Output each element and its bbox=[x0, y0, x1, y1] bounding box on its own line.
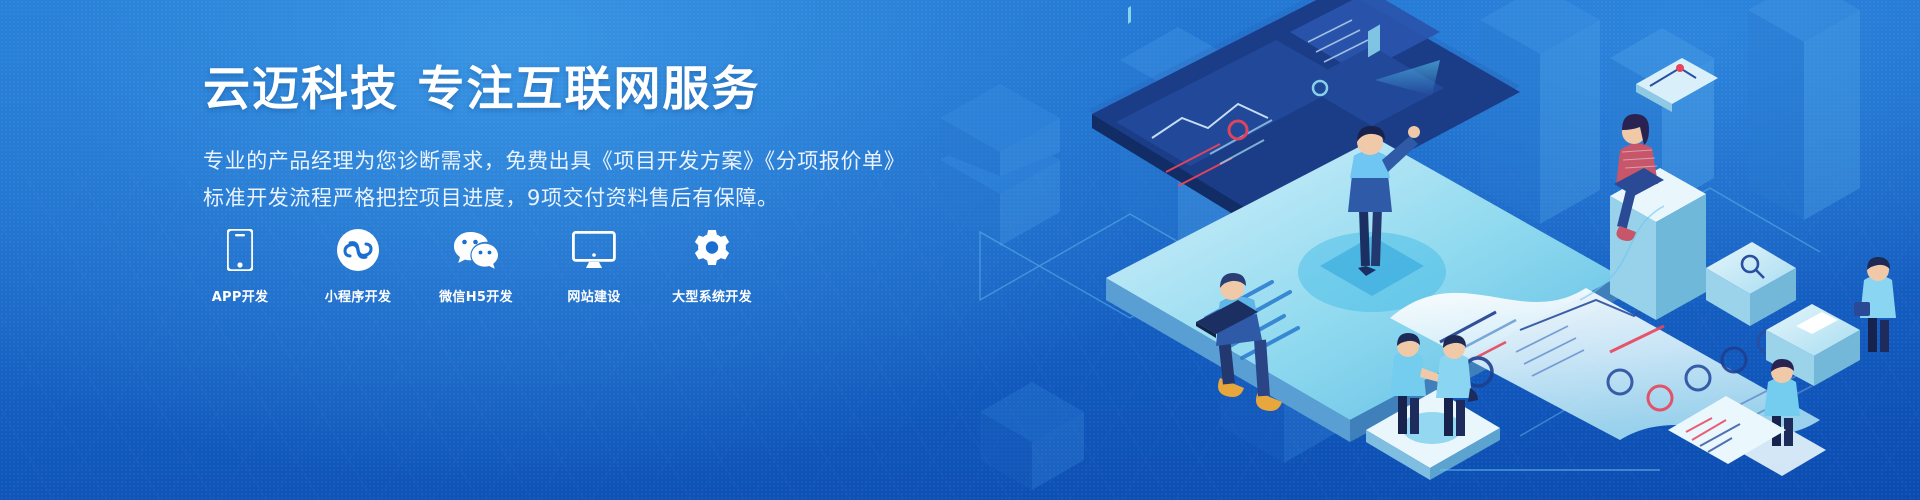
hero-banner: 云迈科技 专注互联网服务 专业的产品经理为您诊断需求，免费出具《项目开发方案》《… bbox=[0, 0, 1920, 500]
isometric-illustration bbox=[920, 0, 1920, 500]
monitor-icon bbox=[570, 228, 618, 272]
hero-copy: 云迈科技 专注互联网服务 专业的产品经理为您诊断需求，免费出具《项目开发方案》《… bbox=[203, 62, 923, 217]
page-title: 云迈科技 专注互联网服务 bbox=[203, 62, 923, 117]
service-label: 大型系统开发 bbox=[672, 286, 752, 305]
service-label: APP开发 bbox=[212, 286, 269, 305]
service-label: 小程序开发 bbox=[325, 286, 392, 305]
service-item-app[interactable]: APP开发 bbox=[200, 228, 280, 305]
service-item-miniprogram[interactable]: 小程序开发 bbox=[318, 228, 398, 305]
service-label: 微信H5开发 bbox=[439, 286, 513, 305]
gear-icon bbox=[688, 228, 736, 272]
subtitle-line-2: 标准开发流程严格把控项目进度，9项交付资料售后有保障。 bbox=[203, 180, 923, 217]
service-item-large-system[interactable]: 大型系统开发 bbox=[672, 228, 752, 305]
service-item-wechat-h5[interactable]: 微信H5开发 bbox=[436, 228, 516, 305]
wechat-icon bbox=[452, 228, 500, 272]
mini-program-icon bbox=[334, 228, 382, 272]
mobile-phone-icon bbox=[216, 228, 264, 272]
subtitle-line-1: 专业的产品经理为您诊断需求，免费出具《项目开发方案》《分项报价单》 bbox=[203, 143, 923, 180]
service-icon-row: APP开发 小程序开发 bbox=[200, 228, 752, 305]
service-label: 网站建设 bbox=[567, 286, 620, 305]
service-item-website[interactable]: 网站建设 bbox=[554, 228, 634, 305]
